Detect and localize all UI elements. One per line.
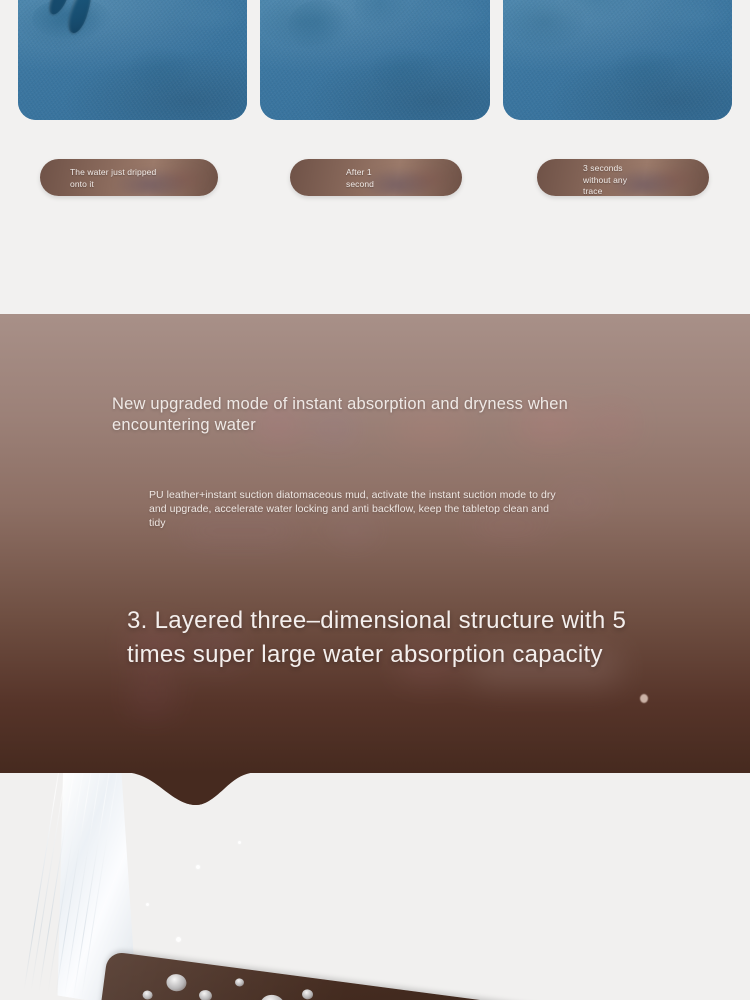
water-splash-droplet: [238, 841, 241, 844]
caption-pill-label: The water just dripped onto it: [70, 167, 156, 190]
caption-pill-water-dripped[interactable]: The water just dripped onto it: [40, 159, 218, 196]
feature-section-title: 3. Layered three–dimensional structure w…: [127, 604, 637, 671]
accent-dot-icon: [640, 694, 648, 703]
mat-sheen: [92, 951, 750, 1000]
layered-structure-feature-section: New upgraded mode of instant absorption …: [0, 314, 750, 773]
water-splash-droplet: [176, 937, 181, 942]
demo-tile-no-trace[interactable]: [503, 0, 732, 120]
caption-pill-label: After 1 second: [346, 167, 374, 190]
demo-tile-row: [0, 0, 750, 122]
water-pour-section: [0, 773, 750, 1000]
demo-tile-after-1-second[interactable]: [260, 0, 490, 120]
caption-pill-label: 3 seconds without any trace: [583, 163, 627, 196]
caption-pill-no-trace[interactable]: 3 seconds without any trace: [537, 159, 709, 196]
water-splash-droplet: [196, 865, 200, 869]
wet-smudge: [288, 0, 352, 52]
caption-pill-after-1-second[interactable]: After 1 second: [290, 159, 462, 196]
feature-lead-body: PU leather+instant suction diatomaceous …: [149, 488, 561, 530]
leather-mottle: [503, 0, 732, 120]
feature-lead-heading: New upgraded mode of instant absorption …: [112, 394, 622, 436]
demo-tile-water-dripped[interactable]: [18, 0, 247, 120]
absorption-demo-section: The water just dripped onto it After 1 s…: [0, 0, 750, 314]
background-blur-artifacts: [0, 314, 750, 773]
water-splash-droplet: [146, 903, 149, 906]
pill-glow: [290, 159, 462, 196]
absorbent-mat[interactable]: [92, 951, 750, 1000]
